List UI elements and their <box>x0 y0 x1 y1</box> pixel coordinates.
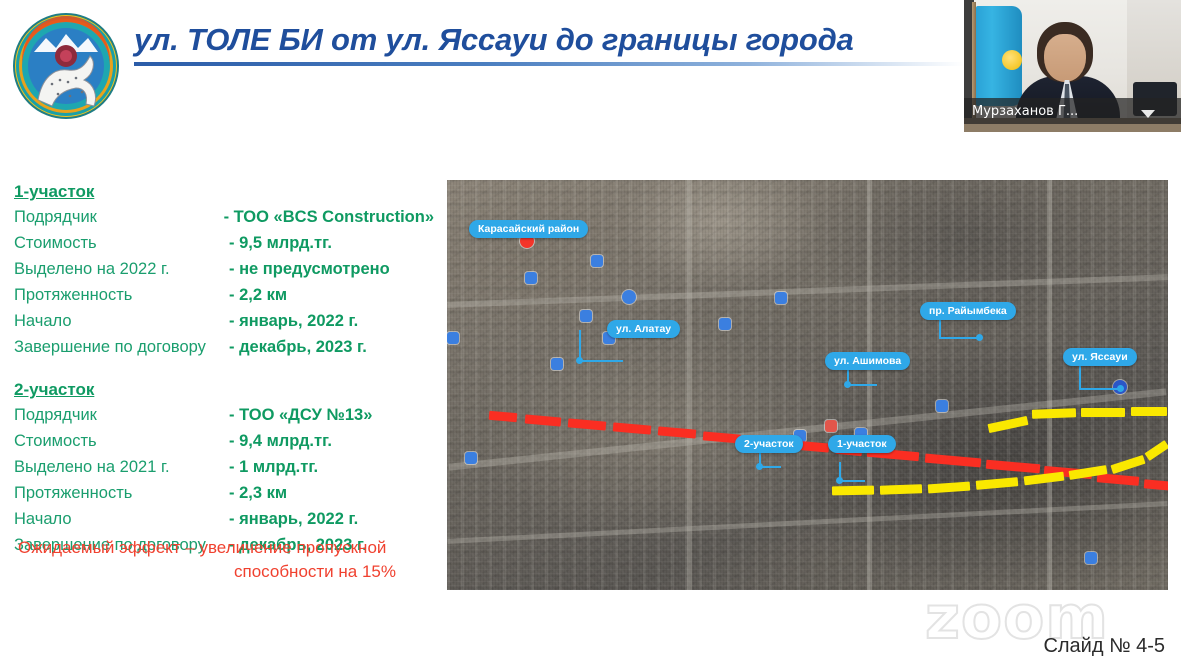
info-value: - не предусмотрено <box>229 260 390 279</box>
participant-name-label: Мурзаханов Г... <box>964 104 1078 119</box>
map-label-pr-raiymbeka[interactable]: пр. Райымбека <box>920 302 1016 320</box>
video-participant-tile[interactable]: Мурзаханов Г... <box>964 0 1181 132</box>
route-segment-1 <box>1032 408 1076 419</box>
map-leader-dot <box>576 357 583 364</box>
slide-number-label: Слайд № 4-5 <box>1043 635 1165 658</box>
map-label-uchastok-1[interactable]: 1-участок <box>828 435 896 453</box>
page-title: ул. ТОЛЕ БИ от ул. Яссауи до границы гор… <box>134 22 964 59</box>
title-block: ул. ТОЛЕ БИ от ул. Яссауи до границы гор… <box>134 22 964 66</box>
info-value: - январь, 2022 г. <box>229 510 358 529</box>
map-leader-dot <box>1117 385 1124 392</box>
flag-sun-icon <box>1002 50 1022 70</box>
route-segment-1 <box>832 486 874 496</box>
info-value: - 2,2 км <box>229 286 287 305</box>
section-uchastok-1: 1-участок Подрядчик - ТОО «BCS Construct… <box>14 182 434 364</box>
almaty-emblem-snow-leopard <box>12 8 120 124</box>
map-label-ul-yassaui[interactable]: ул. Яссауи <box>1063 348 1137 366</box>
info-value: - 1 млрд.тг. <box>229 458 318 477</box>
map-leader-dot <box>756 463 763 470</box>
map-poi-marker[interactable] <box>775 292 787 304</box>
map-road-vertical-c <box>1047 180 1052 590</box>
map-poi-marker[interactable] <box>1085 552 1097 564</box>
kazakhstan-flag-icon <box>976 6 1022 106</box>
info-label: Завершение по договору <box>14 338 229 357</box>
title-underline-rule <box>134 62 964 66</box>
info-label: Протяженность <box>14 484 229 503</box>
info-label: Протяженность <box>14 286 229 305</box>
map-poi-marker-red[interactable] <box>825 420 837 432</box>
map-poi-marker[interactable] <box>525 272 537 284</box>
info-label: Начало <box>14 510 229 529</box>
expected-effect-note: Ожидаемый эффект – увеличение пропускной… <box>18 536 418 584</box>
info-label: Стоимость <box>14 234 229 253</box>
info-value: - 9,5 млрд.тг. <box>229 234 332 253</box>
section-uchastok-2: 2-участок Подрядчик - ТОО «ДСУ №13» Стои… <box>14 380 434 562</box>
map-leader-dot <box>836 477 843 484</box>
map-poi-marker[interactable] <box>591 255 603 267</box>
info-label: Выделено на 2021 г. <box>14 458 229 477</box>
info-row: Подрядчик - ТОО «BCS Construction» <box>14 208 434 234</box>
route-segment-1 <box>1131 407 1167 416</box>
project-info-panel: 1-участок Подрядчик - ТОО «BCS Construct… <box>14 182 434 578</box>
info-row: Начало - январь, 2022 г. <box>14 312 434 338</box>
info-value: - ТОО «ДСУ №13» <box>229 406 372 425</box>
map-poi-marker[interactable] <box>622 290 636 304</box>
map-poi-marker[interactable] <box>936 400 948 412</box>
info-row: Начало - январь, 2022 г. <box>14 510 434 536</box>
effect-line-1: Ожидаемый эффект – увеличение пропускной <box>18 536 418 560</box>
info-row: Выделено на 2022 г. - не предусмотрено <box>14 260 434 286</box>
satellite-map[interactable]: Карасайский район ул. Алатау пр. Райымбе… <box>447 180 1168 590</box>
participant-face <box>1044 34 1086 82</box>
map-noise-texture <box>447 180 1168 590</box>
info-value: - декабрь, 2023 г. <box>229 338 367 357</box>
map-poi-marker[interactable] <box>551 358 563 370</box>
info-value: - январь, 2022 г. <box>229 312 358 331</box>
map-leader-dot <box>844 381 851 388</box>
info-label: Подрядчик <box>14 406 229 425</box>
map-poi-marker[interactable] <box>447 332 459 344</box>
info-row: Подрядчик - ТОО «ДСУ №13» <box>14 406 434 432</box>
info-row: Стоимость - 9,4 млрд.тг. <box>14 432 434 458</box>
map-poi-marker[interactable] <box>719 318 731 330</box>
info-label: Стоимость <box>14 432 229 451</box>
info-row: Завершение по договору - декабрь, 2023 г… <box>14 338 434 364</box>
info-label: Выделено на 2022 г. <box>14 260 229 279</box>
route-segment-1 <box>1081 408 1125 417</box>
map-label-uchastok-2[interactable]: 2-участок <box>735 435 803 453</box>
section-title: 1-участок <box>14 182 434 202</box>
info-value: - 9,4 млрд.тг. <box>229 432 332 451</box>
route-segment-1 <box>880 484 922 494</box>
info-row: Стоимость - 9,5 млрд.тг. <box>14 234 434 260</box>
effect-line-2: способности на 15% <box>18 560 418 584</box>
info-value: - 2,3 км <box>229 484 287 503</box>
map-label-karasay-district[interactable]: Карасайский район <box>469 220 588 238</box>
info-label: Начало <box>14 312 229 331</box>
info-row: Выделено на 2021 г. - 1 млрд.тг. <box>14 458 434 484</box>
map-poi-marker[interactable] <box>465 452 477 464</box>
map-leader-dot <box>976 334 983 341</box>
info-row: Протяженность - 2,2 км <box>14 286 434 312</box>
chevron-down-icon[interactable] <box>1141 110 1155 118</box>
info-row: Протяженность - 2,3 км <box>14 484 434 510</box>
info-value: - ТОО «BCS Construction» <box>224 208 434 227</box>
map-label-ul-alatau[interactable]: ул. Алатау <box>607 320 680 338</box>
section-title: 2-участок <box>14 380 434 400</box>
map-poi-marker[interactable] <box>580 310 592 322</box>
map-label-ul-ashimova[interactable]: ул. Ашимова <box>825 352 910 370</box>
info-label: Подрядчик <box>14 208 224 227</box>
